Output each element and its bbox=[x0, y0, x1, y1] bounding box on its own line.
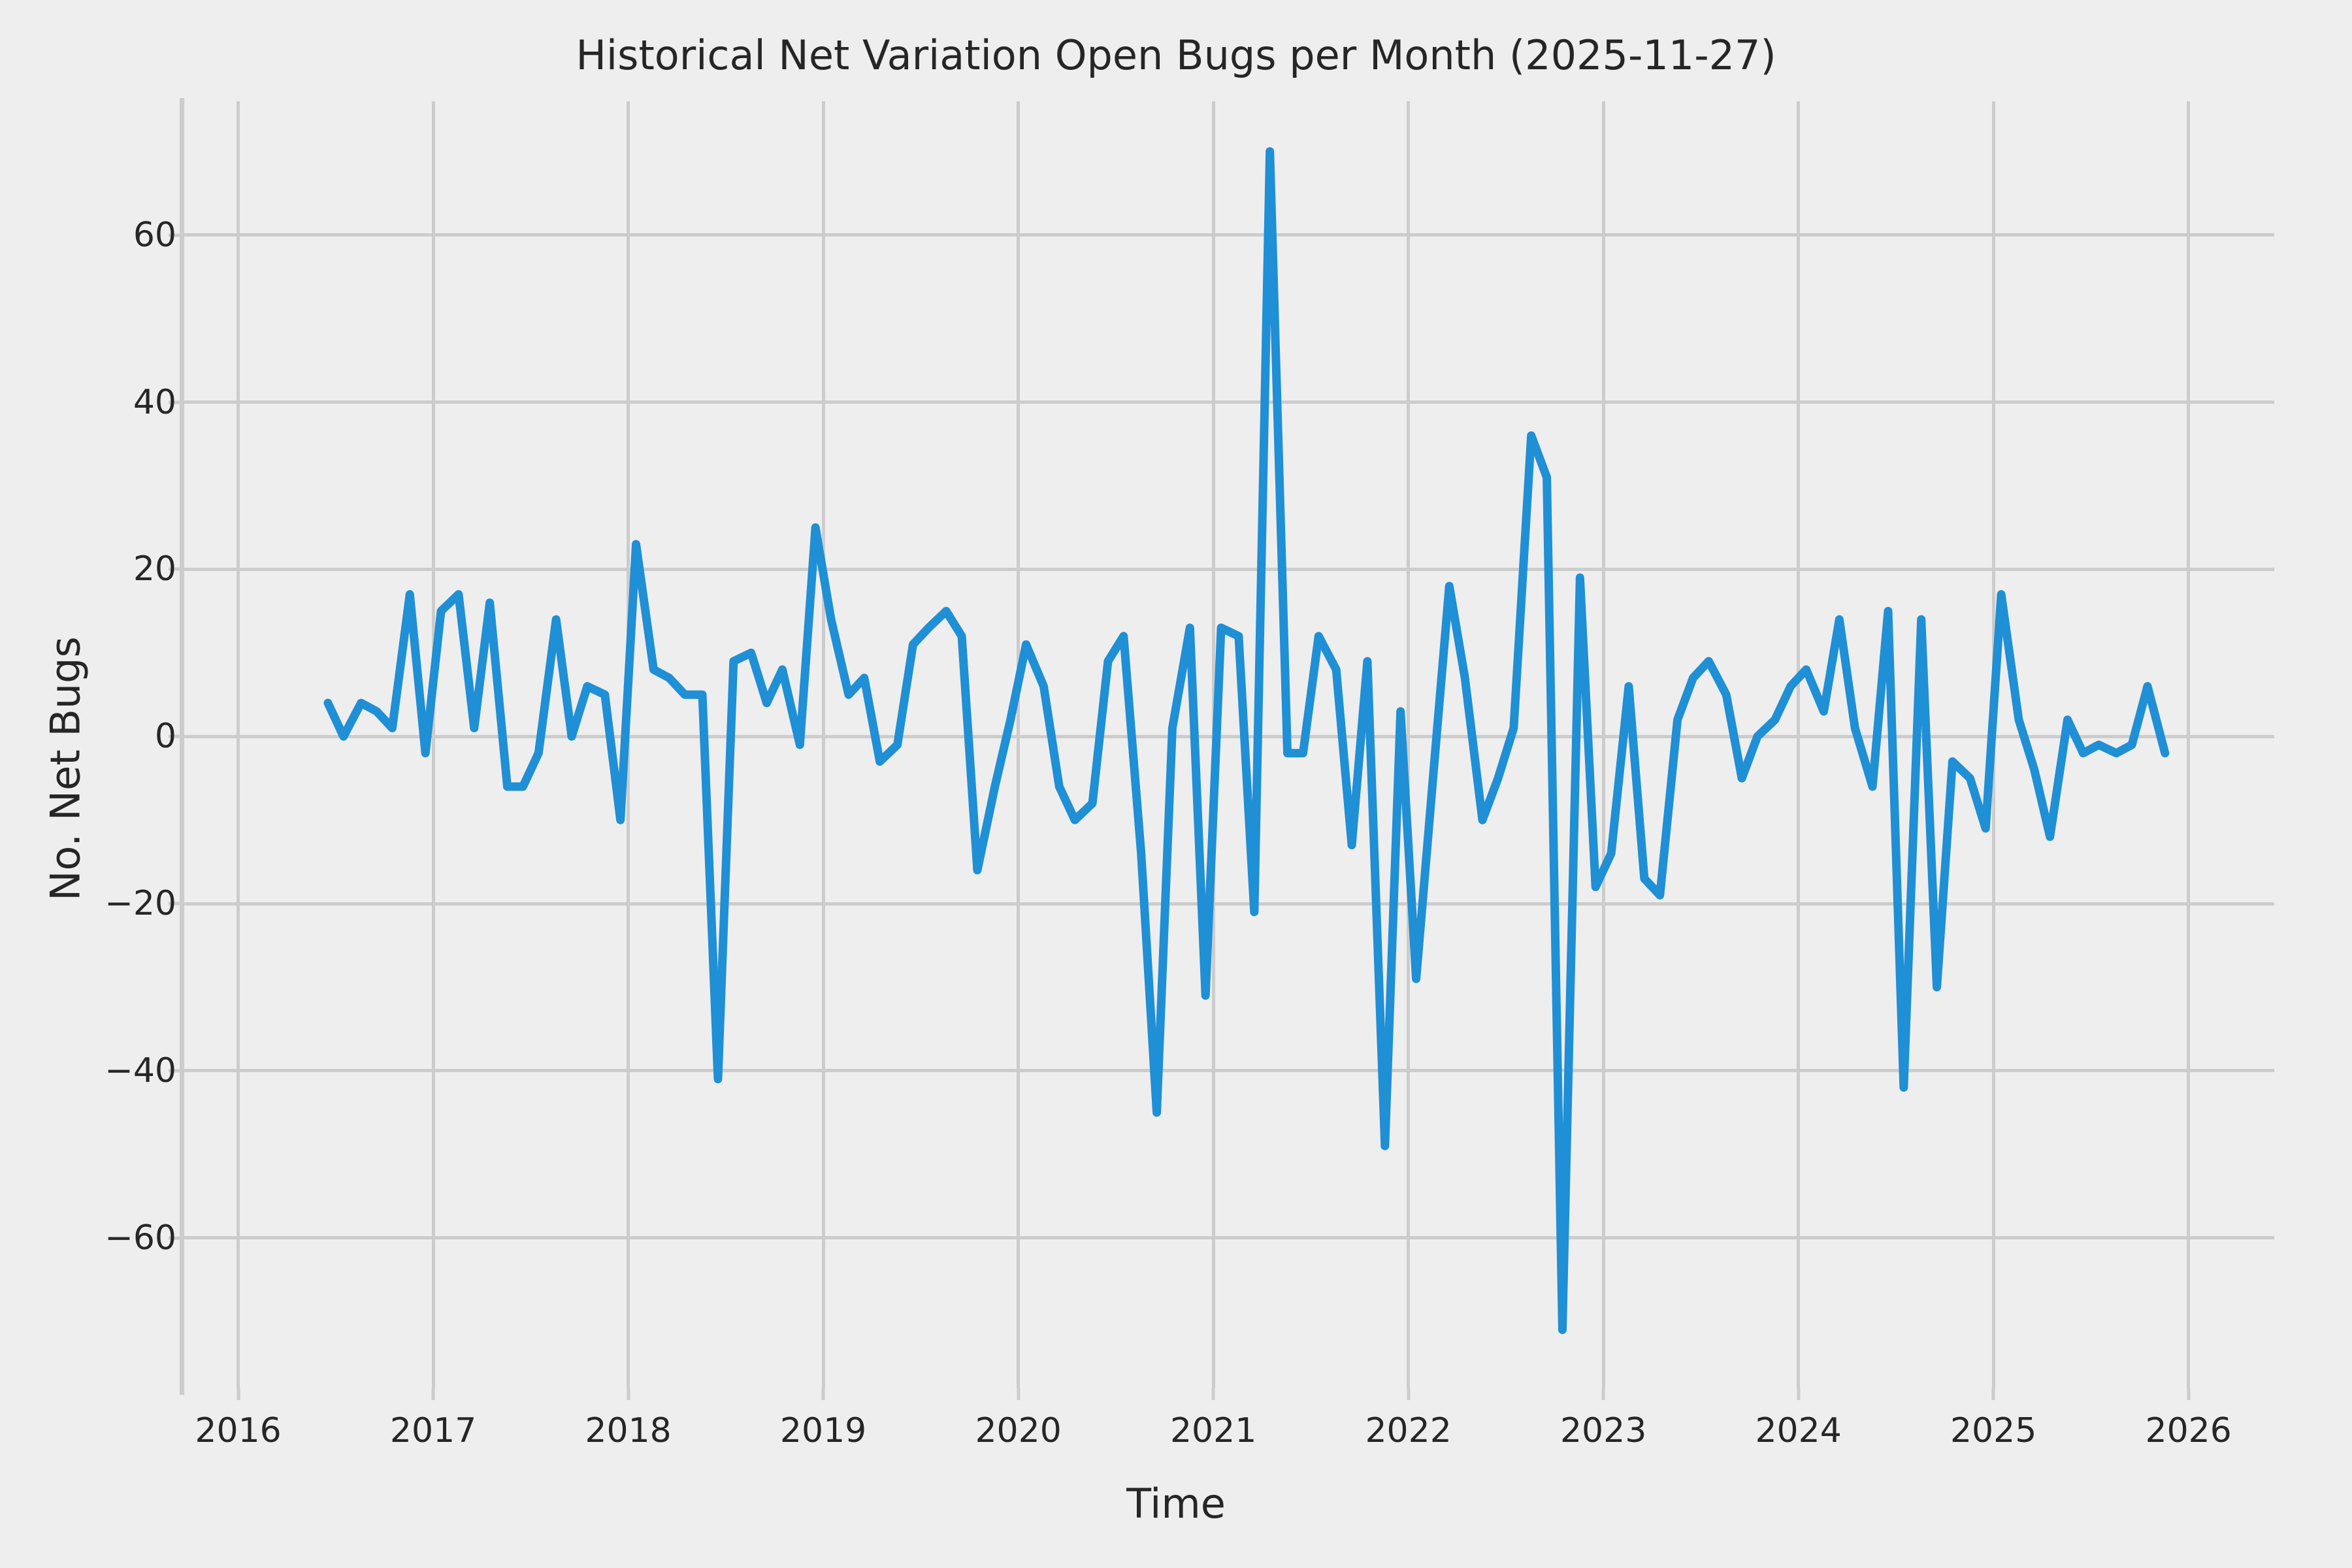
x-tick-mark bbox=[1992, 1388, 1995, 1400]
x-tick-mark bbox=[432, 1388, 435, 1400]
x-tick-label: 2020 bbox=[975, 1411, 1061, 1450]
x-tick-label: 2022 bbox=[1365, 1411, 1451, 1450]
x-tick-mark bbox=[1212, 1388, 1215, 1400]
x-tick-mark bbox=[2187, 1388, 2190, 1400]
net-bugs-line bbox=[328, 152, 2165, 1330]
line-series-svg bbox=[184, 101, 2274, 1388]
y-tick-label: −60 bbox=[105, 1218, 176, 1258]
x-tick-mark bbox=[1407, 1388, 1410, 1400]
x-tick-label: 2016 bbox=[195, 1411, 281, 1450]
y-tick-label: 40 bbox=[133, 383, 176, 422]
y-tick-label: 0 bbox=[155, 717, 176, 756]
y-tick-label: 60 bbox=[133, 216, 176, 255]
x-tick-mark bbox=[1017, 1388, 1020, 1400]
x-tick-label: 2017 bbox=[390, 1411, 476, 1450]
x-tick-label: 2025 bbox=[1950, 1411, 2036, 1450]
y-tick-label: −20 bbox=[105, 884, 176, 923]
x-tick-label: 2018 bbox=[585, 1411, 671, 1450]
x-tick-mark bbox=[1602, 1388, 1605, 1400]
x-tick-label: 2019 bbox=[780, 1411, 866, 1450]
x-tick-mark bbox=[822, 1388, 825, 1400]
x-tick-mark bbox=[1797, 1388, 1800, 1400]
x-tick-mark bbox=[237, 1388, 240, 1400]
x-tick-label: 2023 bbox=[1560, 1411, 1646, 1450]
y-axis-label: No. Net Bugs bbox=[42, 312, 90, 1226]
y-tick-label: 20 bbox=[133, 549, 176, 589]
x-tick-label: 2021 bbox=[1170, 1411, 1256, 1450]
chart-title: Historical Net Variation Open Bugs per M… bbox=[0, 31, 2352, 79]
y-tick-label: −40 bbox=[105, 1051, 176, 1090]
x-tick-mark bbox=[627, 1388, 630, 1400]
plot-area bbox=[184, 101, 2274, 1388]
x-tick-label: 2024 bbox=[1755, 1411, 1841, 1450]
x-tick-label: 2026 bbox=[2145, 1411, 2231, 1450]
x-axis-label: Time bbox=[0, 1480, 2352, 1527]
chart-figure: Historical Net Variation Open Bugs per M… bbox=[0, 0, 2352, 1568]
